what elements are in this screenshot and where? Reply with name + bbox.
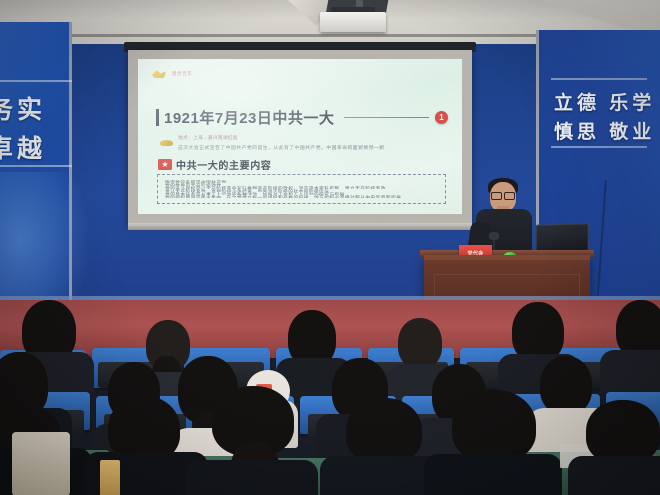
slide-logo-label: 建党百年: [172, 71, 192, 77]
slide-logo: 建党百年: [152, 68, 192, 80]
left-wall-banner: 务实 卓越: [0, 22, 72, 322]
microphone-icon: [489, 232, 499, 240]
slide-section-head: ★ 中共一大的主要内容: [158, 157, 271, 172]
ceiling-projector-icon: [320, 12, 386, 32]
slide-content-line: 党的组织原则是民主集中，在全党建立统一的组织和严格的纪律，地方组织必须绝对服从中…: [165, 195, 438, 198]
title-divider-line: [344, 117, 429, 118]
person-head: [452, 390, 536, 462]
left-banner-rule-bottom: [0, 165, 72, 167]
slide-note-line-1: 地点：上海→嘉兴南湖红船: [178, 135, 385, 141]
person-head: [512, 302, 564, 362]
water-bottle[interactable]: [100, 460, 120, 495]
projection-screen-frame: 建党百年 1921年7月23日中共一大 1 地点：上海→嘉兴南湖红船 这次大会正…: [128, 50, 472, 223]
left-banner-line-2: 卓越: [0, 129, 46, 165]
glasses-icon: [491, 192, 515, 198]
person-head: [346, 398, 422, 464]
left-banner-rule-top: [0, 80, 72, 82]
boat-icon: [160, 137, 173, 148]
screen-bottom-bar: [128, 223, 472, 230]
slide-step-badge: 1: [435, 111, 448, 124]
left-banner-line-1: 务实: [0, 90, 46, 126]
person-head: [398, 318, 442, 368]
tote-bag[interactable]: [12, 432, 70, 495]
red-star-icon: ★: [158, 159, 172, 170]
slide-note-line-2: 这次大会正式宣告了中国共产党的诞生，从此有了中国共产党，中国革命的面貌焕然一新: [178, 144, 385, 151]
person-head: [540, 356, 592, 414]
right-banner-rule-bottom: [551, 146, 647, 148]
person-head: [586, 400, 660, 464]
slide-title: 1921年7月23日中共一大: [164, 107, 334, 128]
title-accent-bar: [156, 109, 159, 126]
person-shoulders: [424, 454, 562, 495]
person-shoulders: [568, 456, 660, 495]
slide-note-block: 地点：上海→嘉兴南湖红船 这次大会正式宣告了中国共产党的诞生，从此有了中国共产党…: [160, 135, 446, 151]
person-shoulders: [186, 460, 318, 495]
audience-area: [0, 300, 660, 495]
right-banner-rule-top: [551, 78, 647, 80]
right-banner-line-2: 慎思 敬业: [554, 117, 655, 144]
projection-screen: 建党百年 1921年7月23日中共一大 1 地点：上海→嘉兴南湖红船 这次大会正…: [138, 59, 462, 214]
dove-logo-icon: [152, 68, 168, 80]
slide-content-box: 确定党的名称是中国共产党 党的性质是无产阶级政党 党的奋斗目标是以无产阶级革命军…: [157, 174, 446, 204]
right-banner-line-1: 立德 乐学: [554, 88, 655, 115]
person-shoulders: [600, 350, 660, 394]
slide-section-title: 中共一大的主要内容: [176, 157, 271, 172]
lecture-hall-scene: 务实 卓越 立德 乐学 慎思 敬业 建党百年 1921年7月23日中共一大 1: [0, 0, 660, 495]
slide-title-row: 1921年7月23日中共一大 1: [156, 107, 448, 128]
